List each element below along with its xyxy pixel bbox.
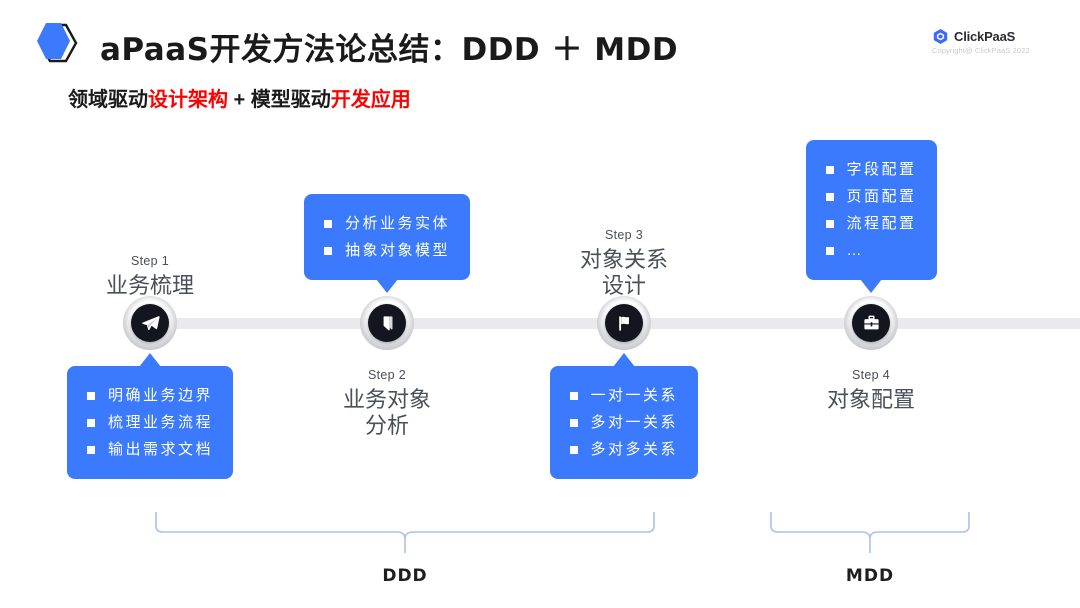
bullet-square-icon	[826, 193, 834, 201]
bullet-square-icon	[87, 446, 95, 454]
slide-canvas: aPaaS开发方法论总结：DDD ＋ MDD 领域驱动设计架构 + 模型驱动开发…	[0, 0, 1080, 608]
group-ddd-brace	[155, 512, 655, 561]
callout-list-item: 多对一关系	[570, 409, 679, 436]
callout-list-item: 页面配置	[826, 183, 917, 210]
bullet-square-icon	[826, 166, 834, 174]
timeline-node-3[interactable]	[597, 296, 651, 350]
step-number-label: Step 1	[40, 254, 260, 268]
callout-item-text: 页面配置	[847, 189, 917, 204]
timeline-node-1[interactable]	[123, 296, 177, 350]
callout-list-item: 梳理业务流程	[87, 409, 213, 436]
callout-pointer	[376, 279, 398, 293]
callout-list-item: 字段配置	[826, 156, 917, 183]
callout-list-item: 流程配置	[826, 210, 917, 237]
step-callout-1: 明确业务边界梳理业务流程输出需求文档	[67, 366, 233, 479]
step-number-label: Step 3	[514, 228, 734, 242]
bullet-square-icon	[570, 446, 578, 454]
callout-item-text: 明确业务边界	[108, 388, 213, 403]
callout-item-text: 抽象对象模型	[345, 243, 450, 258]
brand-name: ClickPaaS	[954, 29, 1015, 44]
bullet-square-icon	[826, 247, 834, 255]
step-callout-3: 一对一关系多对一关系多对多关系	[550, 366, 699, 479]
callout-pointer	[139, 353, 161, 367]
callout-pointer	[860, 279, 882, 293]
callout-item-text: 梳理业务流程	[108, 415, 213, 430]
subtitle-part-2: 设计架构	[148, 89, 228, 111]
callout-item-text: 输出需求文档	[108, 442, 213, 457]
step-name-label: 业务梳理	[40, 273, 260, 299]
callout-item-text: 多对多关系	[591, 442, 679, 457]
step-caption-1: Step 1业务梳理	[40, 254, 260, 299]
group-mdd-label: MDD	[790, 566, 950, 586]
step-name-label: 对象关系 设计	[514, 247, 734, 298]
bullet-square-icon	[87, 392, 95, 400]
brand-watermark: ClickPaaS Copyright@ ClickPaaS 2022	[932, 28, 1052, 55]
briefcase-icon	[852, 304, 890, 342]
subtitle-part-3: + 模型驱动	[228, 89, 331, 111]
step-caption-4: Step 4对象配置	[761, 368, 981, 413]
timeline-node-4[interactable]	[844, 296, 898, 350]
callout-list-item: 多对多关系	[570, 436, 679, 463]
paper-plane-icon	[131, 304, 169, 342]
callout-item-text: …	[847, 243, 865, 258]
bullet-square-icon	[324, 247, 332, 255]
bullet-square-icon	[826, 220, 834, 228]
page-subtitle: 领域驱动设计架构 + 模型驱动开发应用	[68, 83, 411, 112]
callout-list-item: 输出需求文档	[87, 436, 213, 463]
callout-item-text: 分析业务实体	[345, 216, 450, 231]
step-number-label: Step 2	[277, 368, 497, 382]
callout-list-item: 分析业务实体	[324, 210, 450, 237]
flag-icon	[605, 304, 643, 342]
group-mdd-brace	[770, 512, 970, 561]
copyright-text: Copyright@ ClickPaaS 2022	[932, 46, 1052, 55]
step-caption-3: Step 3对象关系 设计	[514, 228, 734, 298]
step-caption-2: Step 2业务对象 分析	[277, 368, 497, 438]
callout-list-item: …	[826, 237, 917, 264]
hexagon-logo-icon	[34, 21, 82, 65]
subtitle-part-4: 开发应用	[331, 89, 411, 111]
bullet-square-icon	[570, 419, 578, 427]
callout-item-text: 字段配置	[847, 162, 917, 177]
callout-list-item: 抽象对象模型	[324, 237, 450, 264]
callout-list-item: 一对一关系	[570, 382, 679, 409]
step-callout-4: 字段配置页面配置流程配置…	[806, 140, 937, 280]
step-number-label: Step 4	[761, 368, 981, 382]
subtitle-part-1: 领域驱动	[68, 89, 148, 111]
callout-item-text: 多对一关系	[591, 415, 679, 430]
bullet-square-icon	[87, 419, 95, 427]
page-title: aPaaS开发方法论总结：DDD ＋ MDD	[100, 24, 678, 69]
group-ddd-label: DDD	[325, 566, 485, 586]
book-icon	[368, 304, 406, 342]
step-callout-2: 分析业务实体抽象对象模型	[304, 194, 470, 280]
callout-item-text: 流程配置	[847, 216, 917, 231]
timeline-node-2[interactable]	[360, 296, 414, 350]
bullet-square-icon	[324, 220, 332, 228]
callout-pointer	[613, 353, 635, 367]
step-name-label: 对象配置	[761, 387, 981, 413]
step-name-label: 业务对象 分析	[277, 387, 497, 438]
callout-list-item: 明确业务边界	[87, 382, 213, 409]
callout-item-text: 一对一关系	[591, 388, 679, 403]
bullet-square-icon	[570, 392, 578, 400]
clickpaas-hexagon-icon	[932, 28, 949, 45]
